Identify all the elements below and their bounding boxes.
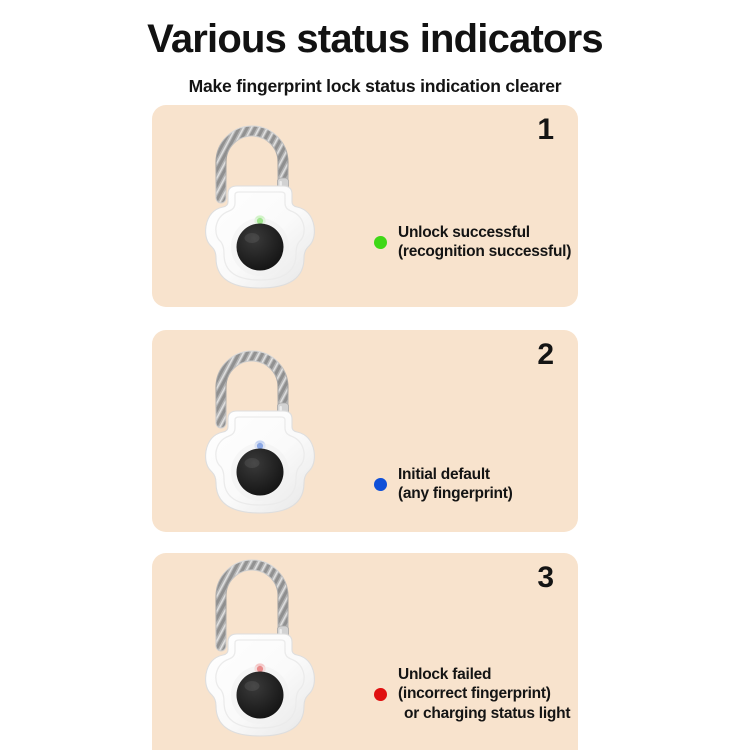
status-description: Unlock failed (incorrect fingerprint) or… xyxy=(398,665,570,723)
page-title: Various status indicators xyxy=(0,0,750,62)
status-panel: 3 xyxy=(152,553,578,750)
status-label: Initial default (any fingerprint) xyxy=(374,465,513,504)
status-panel: 2 xyxy=(152,330,578,532)
page-subtitle: Make fingerprint lock status indication … xyxy=(0,62,750,97)
status-line: (incorrect fingerprint) xyxy=(398,684,570,703)
fingerprint-padlock-icon xyxy=(180,550,340,755)
fingerprint-padlock-icon xyxy=(180,102,340,307)
infographic-page: Various status indicators Make fingerpri… xyxy=(0,0,750,750)
status-dot-red xyxy=(374,688,387,701)
status-line: Unlock successful xyxy=(398,223,571,242)
fingerprint-padlock-icon xyxy=(180,327,340,532)
status-line: Unlock failed xyxy=(398,665,570,684)
panel-number: 1 xyxy=(537,115,554,145)
panel-number: 3 xyxy=(537,563,554,593)
header: Various status indicators Make fingerpri… xyxy=(0,0,750,97)
fingerprint-sensor-icon xyxy=(237,224,284,271)
status-dot-green xyxy=(374,236,387,249)
status-dot-blue xyxy=(374,478,387,491)
status-line: (any fingerprint) xyxy=(398,484,513,503)
status-label: Unlock failed (incorrect fingerprint) or… xyxy=(374,665,570,723)
status-description: Initial default (any fingerprint) xyxy=(398,465,513,504)
status-panel: 1 xyxy=(152,105,578,307)
status-label: Unlock successful (recognition successfu… xyxy=(374,223,571,262)
fingerprint-sensor-icon xyxy=(237,672,284,719)
status-description: Unlock successful (recognition successfu… xyxy=(398,223,571,262)
status-line: (recognition successful) xyxy=(398,242,571,261)
panel-number: 2 xyxy=(537,340,554,370)
status-line: Initial default xyxy=(398,465,513,484)
fingerprint-sensor-icon xyxy=(237,449,284,496)
status-line: or charging status light xyxy=(398,704,570,723)
